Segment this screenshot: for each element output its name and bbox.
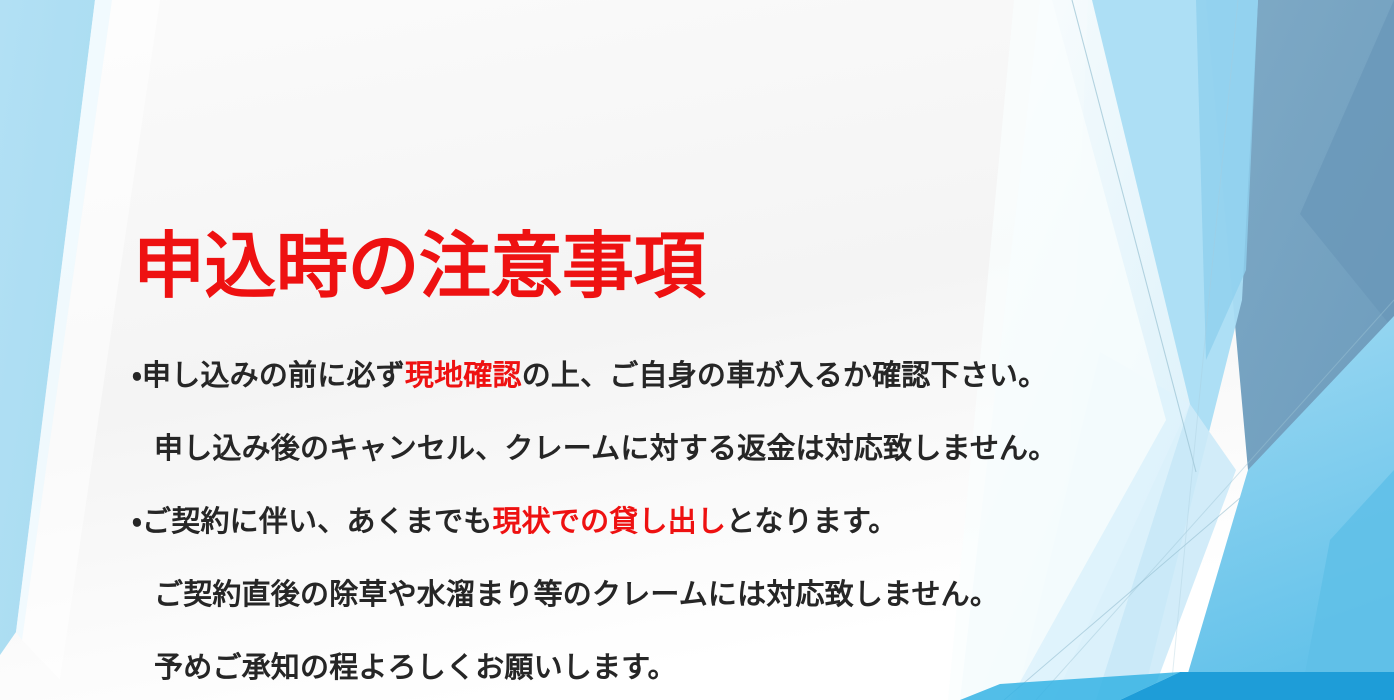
body-text: 予めご承知の程よろしくお願いします。 — [154, 652, 677, 684]
presentation-slide: 申込時の注意事項 ・申し込みの前に必ず現地確認の上、ご自身の車が入るか確認下さい… — [0, 0, 1394, 700]
body-text-block: ・申し込みの前に必ず現地確認の上、ご自身の車が入るか確認下さい。申し込み後のキャ… — [132, 325, 1172, 700]
page-title: 申込時の注意事項 — [133, 226, 1033, 310]
body-line: ご契約直後の除草や水溜まり等のクレームには対応致しません。 — [132, 573, 1172, 617]
body-text: ご契約直後の除草や水溜まり等のクレームには対応致しません。 — [154, 579, 999, 611]
body-line: 申し込み後のキャンセル、クレームに対する返金は対応致しません。 — [132, 427, 1172, 471]
body-text: の上、ご自身の車が入るか確認下さい。 — [522, 360, 1048, 392]
emphasis-text: 現状での貸し出し — [492, 506, 726, 538]
emphasis-text: 現地確認 — [405, 360, 522, 392]
slide-content: 申込時の注意事項 ・申し込みの前に必ず現地確認の上、ご自身の車が入るか確認下さい… — [0, 0, 1394, 700]
body-text: となります。 — [726, 506, 897, 538]
body-text: 申し込み後のキャンセル、クレームに対する返金は対応致しません。 — [154, 433, 1057, 465]
body-line: ・ご契約に伴い、あくまでも現状での貸し出しとなります。 — [132, 500, 1172, 544]
body-line: ・申し込みの前に必ず現地確認の上、ご自身の車が入るか確認下さい。 — [132, 354, 1172, 398]
body-text: ・ご契約に伴い、あくまでも — [132, 506, 492, 538]
body-text: ・申し込みの前に必ず — [132, 360, 405, 392]
body-line: 予めご承知の程よろしくお願いします。 — [132, 646, 1172, 690]
